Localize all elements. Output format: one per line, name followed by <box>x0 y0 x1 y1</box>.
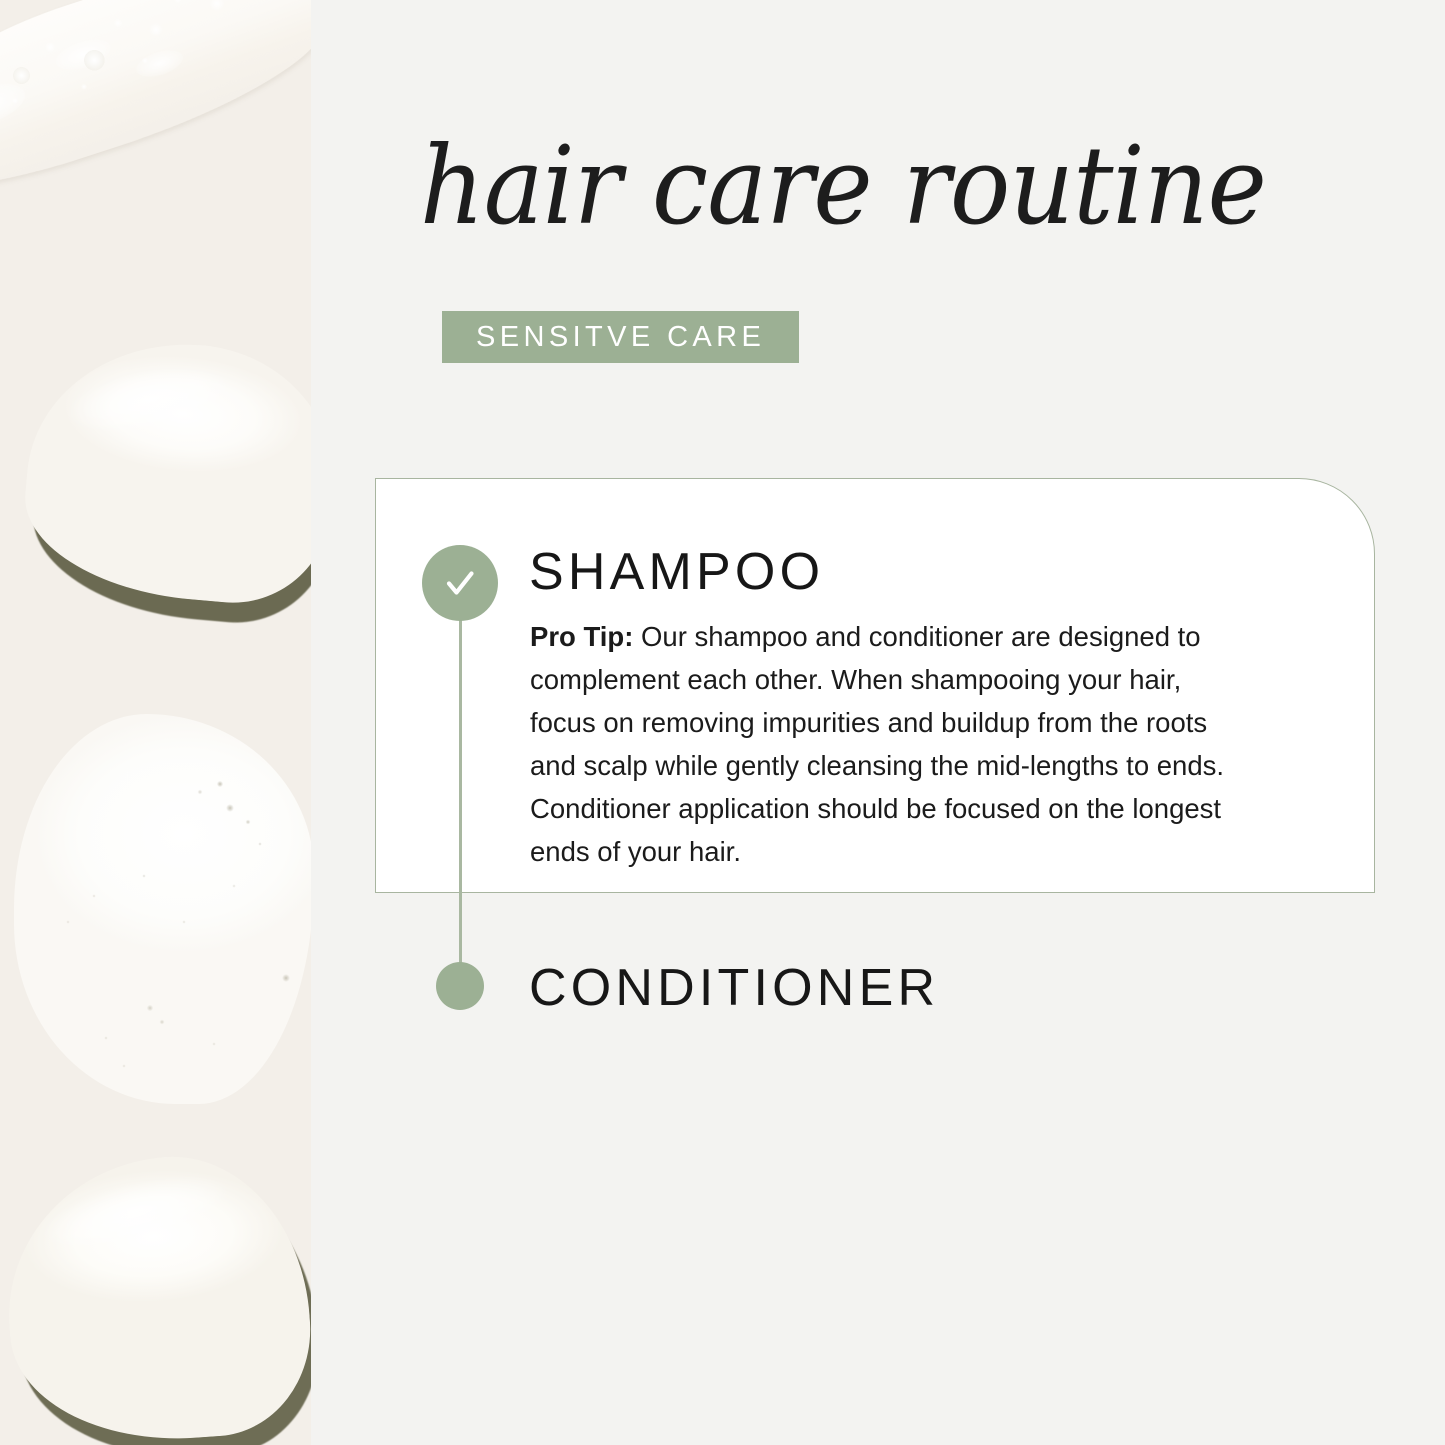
step-title-shampoo: SHAMPOO <box>529 542 824 602</box>
category-badge: SENSITVE CARE <box>442 311 799 363</box>
step-connector-line <box>459 583 462 987</box>
main-content: hair care routine SENSITVE CARE SHAMPOO … <box>311 0 1445 1445</box>
step-title-conditioner: CONDITIONER <box>529 958 939 1018</box>
poster-canvas: hair care routine SENSITVE CARE SHAMPOO … <box>0 0 1445 1445</box>
texture-panel <box>0 0 311 1445</box>
swatch-white-foam <box>0 700 311 1120</box>
check-circle-icon[interactable] <box>422 545 498 621</box>
page-title: hair care routine <box>348 130 1338 243</box>
pro-tip-lead: Pro Tip: <box>530 621 633 652</box>
swatch-clear-gel-bottom <box>0 1140 311 1445</box>
foam-bubbles <box>24 726 308 1098</box>
swatch-cream-swoosh <box>10 318 311 648</box>
step-dot-icon[interactable] <box>436 962 484 1010</box>
category-badge-label: SENSITVE CARE <box>476 321 765 354</box>
swatch-clear-gel-bubbles <box>0 0 311 220</box>
pro-tip-body: Our shampoo and conditioner are designed… <box>530 621 1224 867</box>
shampoo-pro-tip: Pro Tip: Our shampoo and conditioner are… <box>530 615 1252 873</box>
